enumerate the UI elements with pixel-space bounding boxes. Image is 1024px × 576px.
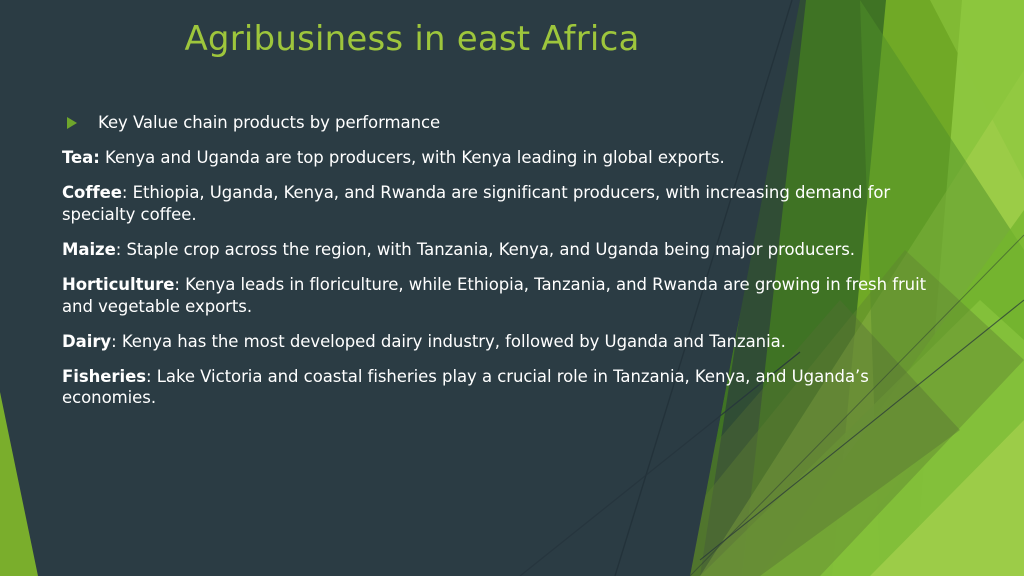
paragraph-tea-lead: Tea: [62, 148, 100, 167]
paragraph-maize: Maize: Staple crop across the region, wi… [62, 239, 950, 261]
triangle-right-icon [67, 117, 77, 129]
paragraph-dairy: Dairy: Kenya has the most developed dair… [62, 331, 950, 353]
presentation-slide: Agribusiness in east Africa Key Value ch… [0, 0, 1024, 576]
paragraph-horticulture-text: : Kenya leads in floriculture, while Eth… [62, 275, 926, 316]
paragraph-coffee-text: : Ethiopia, Uganda, Kenya, and Rwanda ar… [62, 183, 890, 224]
paragraph-maize-text: : Staple crop across the region, with Ta… [116, 240, 855, 259]
paragraph-coffee-lead: Coffee [62, 183, 122, 202]
slide-body: Key Value chain products by performance … [62, 112, 950, 409]
paragraph-dairy-text: : Kenya has the most developed dairy ind… [111, 332, 786, 351]
slide-title: Agribusiness in east Africa [62, 20, 762, 59]
paragraph-coffee: Coffee: Ethiopia, Uganda, Kenya, and Rwa… [62, 182, 934, 226]
paragraph-fisheries: Fisheries: Lake Victoria and coastal fis… [62, 366, 934, 410]
paragraph-horticulture: Horticulture: Kenya leads in floricultur… [62, 274, 938, 318]
paragraph-maize-lead: Maize [62, 240, 116, 259]
bullet-item-key-value-chain: Key Value chain products by performance [62, 112, 950, 134]
paragraph-tea-text: Kenya and Uganda are top producers, with… [100, 148, 725, 167]
bullet-item-label: Key Value chain products by performance [98, 113, 440, 132]
slide-content: Agribusiness in east Africa Key Value ch… [0, 0, 1024, 576]
paragraph-fisheries-text: : Lake Victoria and coastal fisheries pl… [62, 367, 869, 408]
paragraph-tea: Tea: Kenya and Uganda are top producers,… [62, 147, 950, 169]
paragraph-fisheries-lead: Fisheries [62, 367, 146, 386]
paragraph-dairy-lead: Dairy [62, 332, 111, 351]
paragraph-horticulture-lead: Horticulture [62, 275, 174, 294]
